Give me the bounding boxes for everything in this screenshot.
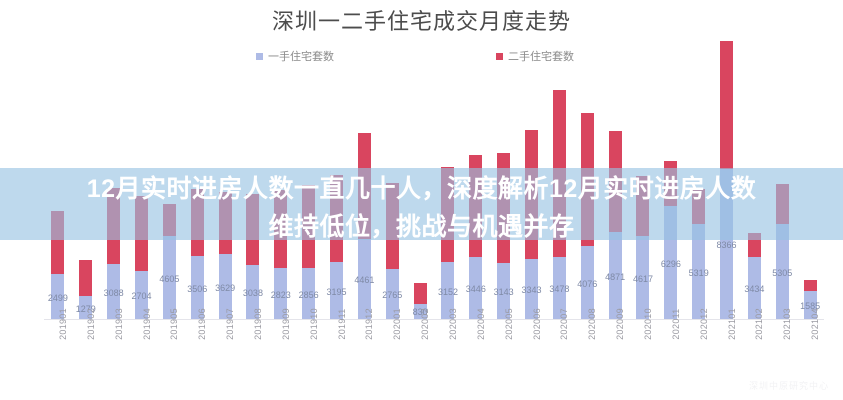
x-axis-tick: 202008 [573, 322, 601, 378]
x-axis-tick-label: 202012 [699, 308, 709, 340]
watermark-label: 深圳中原研究中心 [749, 379, 829, 392]
x-axis-tick-label: 202101 [727, 308, 737, 340]
x-axis-tick: 202103 [768, 322, 796, 378]
x-axis-tick-label: 202104 [810, 308, 820, 340]
x-axis-tick: 201911 [323, 322, 351, 378]
x-axis-tick: 202003 [434, 322, 462, 378]
x-axis-tick: 202010 [629, 322, 657, 378]
x-axis-tick-label: 201907 [225, 308, 235, 340]
x-axis-tick-label: 202001 [392, 308, 402, 340]
x-axis-tick: 201903 [100, 322, 128, 378]
legend-item-second-hand[interactable]: 二手住宅套数 [496, 48, 574, 64]
bar-value-label-first-hand: 3038 [243, 288, 263, 298]
bar-value-label-first-hand: 3446 [466, 284, 486, 294]
x-axis-tick: 201907 [211, 322, 239, 378]
legend-label-second-hand: 二手住宅套数 [508, 48, 574, 64]
bar-value-label-first-hand: 2856 [299, 290, 319, 300]
x-axis-tick-label: 201910 [309, 308, 319, 340]
x-axis-tick: 202012 [685, 322, 713, 378]
x-axis-tick: 201904 [128, 322, 156, 378]
x-axis-tick: 202007 [545, 322, 573, 378]
bar-value-label-first-hand: 2704 [131, 291, 151, 301]
bar-segment-second-hand[interactable] [79, 260, 92, 296]
bar-value-label-first-hand: 3143 [494, 287, 514, 297]
x-axis-tick-label: 202004 [476, 308, 486, 340]
x-axis-tick-label: 202102 [754, 308, 764, 340]
x-axis-tick: 202102 [740, 322, 768, 378]
bar-value-label-first-hand: 2823 [271, 290, 291, 300]
bar-value-label-first-hand: 4617 [633, 274, 653, 284]
x-axis-tick: 201905 [155, 322, 183, 378]
x-axis-tick: 201910 [295, 322, 323, 378]
chart-legend: 一手住宅套数 二手住宅套数 [0, 48, 843, 66]
x-axis-tick-label: 201904 [142, 308, 152, 340]
x-axis-tick-label: 202003 [448, 308, 458, 340]
x-axis-tick-label: 202007 [559, 308, 569, 340]
x-axis-tick-label: 202008 [587, 308, 597, 340]
x-axis-tick-label: 202002 [420, 308, 430, 340]
bar-value-label-first-hand: 3506 [187, 284, 207, 294]
x-axis-tick-label: 201912 [364, 308, 374, 340]
x-axis-tick: 202005 [490, 322, 518, 378]
bar-value-label-first-hand: 4461 [354, 275, 374, 285]
legend-swatch-first-hand [256, 53, 263, 60]
overlay-headline: 12月实时进房人数一直几十人，深度解析12月实时进房人数维持低位，挑战与机遇并存 [0, 170, 843, 246]
bar-segment-second-hand[interactable] [804, 280, 817, 291]
x-axis-tick: 202101 [713, 322, 741, 378]
x-axis-tick-label: 201906 [197, 308, 207, 340]
bar-segment-second-hand[interactable] [414, 283, 427, 304]
x-axis-tick-label: 202011 [671, 308, 681, 339]
bar-value-label-first-hand: 3629 [215, 283, 235, 293]
x-axis-tick-labels: 2019012019022019032019042019052019062019… [44, 322, 824, 378]
bar-value-label-first-hand: 4605 [159, 274, 179, 284]
bar-value-label-first-hand: 4076 [577, 279, 597, 289]
bar-value-label-first-hand: 5319 [689, 268, 709, 278]
bar-value-label-first-hand: 3343 [522, 285, 542, 295]
legend-item-first-hand[interactable]: 一手住宅套数 [256, 48, 334, 64]
legend-label-first-hand: 一手住宅套数 [268, 48, 334, 64]
x-axis-tick: 202002 [406, 322, 434, 378]
x-axis-tick-label: 201911 [337, 308, 347, 339]
x-axis-tick: 202001 [378, 322, 406, 378]
x-axis-tick-label: 202009 [615, 308, 625, 340]
x-axis-tick: 201901 [44, 322, 72, 378]
x-axis-tick: 202006 [518, 322, 546, 378]
x-axis-tick: 201909 [267, 322, 295, 378]
bar-value-label-first-hand: 3088 [104, 288, 124, 298]
bar-value-label-first-hand: 3152 [438, 287, 458, 297]
x-axis-tick: 202104 [796, 322, 824, 378]
x-axis-tick-label: 201903 [114, 308, 124, 340]
x-axis-tick-label: 202005 [504, 308, 514, 340]
page-title: 深圳一二手住宅成交月度走势 [0, 4, 843, 36]
bar-value-label-first-hand: 3195 [327, 287, 347, 297]
x-axis-tick-label: 202103 [782, 308, 792, 340]
bar-value-label-first-hand: 3434 [744, 284, 764, 294]
bar-value-label-first-hand: 5305 [772, 268, 792, 278]
x-axis-tick-label: 201905 [169, 308, 179, 340]
x-axis-tick: 201908 [239, 322, 267, 378]
bar-value-label-first-hand: 6296 [661, 259, 681, 269]
x-axis-tick: 202011 [657, 322, 685, 378]
bar-value-label-first-hand: 2765 [382, 290, 402, 300]
x-axis-tick-label: 202006 [532, 308, 542, 340]
bar-value-label-first-hand: 4871 [605, 272, 625, 282]
x-axis-tick-label: 202010 [643, 308, 653, 340]
x-axis-tick-label: 201909 [281, 308, 291, 340]
chart-screenshot: 深圳一二手住宅成交月度走势 一手住宅套数 二手住宅套数 249912793088… [0, 0, 843, 400]
x-axis-tick: 201912 [350, 322, 378, 378]
x-axis-tick: 201906 [183, 322, 211, 378]
bar-value-label-first-hand: 3478 [549, 284, 569, 294]
x-axis-tick: 202009 [601, 322, 629, 378]
x-axis-tick-label: 201908 [253, 308, 263, 340]
bar-segment-second-hand[interactable] [720, 41, 733, 169]
bar-value-label-first-hand: 2499 [48, 293, 68, 303]
x-axis-tick: 202004 [462, 322, 490, 378]
x-axis-tick-label: 201902 [86, 308, 96, 340]
legend-swatch-second-hand [496, 53, 503, 60]
x-axis-tick: 201902 [72, 322, 100, 378]
x-axis-tick-label: 201901 [58, 308, 68, 340]
